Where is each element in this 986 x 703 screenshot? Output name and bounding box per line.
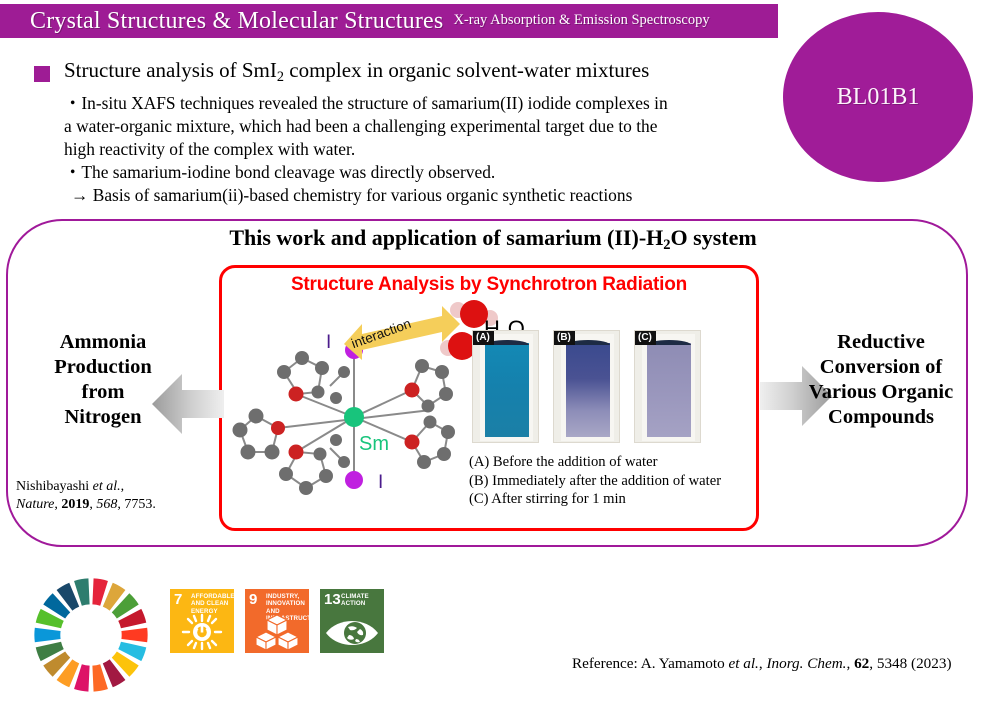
- sun-power-icon: [170, 613, 234, 651]
- right-line-3: Various Organic: [790, 380, 972, 405]
- reference-journal: Inorg. Chem.: [766, 655, 846, 672]
- citation-year: 2019: [61, 497, 89, 512]
- cuvette-c: (C): [634, 330, 701, 443]
- sdg-color-wheel-icon: ["#E5243B","#DDA63A","#4C9F38","#C5192D"…: [32, 576, 150, 694]
- intro-title: Structure analysis of SmI2 complex in or…: [64, 58, 649, 86]
- cuvette-caption-c: (C) After stirring for 1 min: [469, 490, 721, 509]
- reference-etal: et al.: [728, 655, 758, 672]
- beamline-badge: BL01B1: [783, 12, 973, 182]
- iodine-label-bottom: I: [378, 472, 383, 493]
- intro-line-1: ・In-situ XAFS techniques revealed the st…: [64, 92, 754, 115]
- cuvette-caption-a: (A) Before the addition of water: [469, 453, 721, 472]
- sdg-wheel-segment: [121, 628, 147, 643]
- citation-comma: ,: [121, 479, 125, 494]
- cuvette-tag-a: (A): [473, 331, 494, 345]
- sdg-label-13: CLIMATE ACTION: [341, 593, 381, 608]
- left-citation: Nishibayashi et al., Nature, 2019, 568, …: [16, 478, 216, 513]
- intro-heading-row: Structure analysis of SmI2 complex in or…: [34, 58, 754, 86]
- right-line-2: Conversion of: [790, 355, 972, 380]
- left-line-1: Ammonia: [12, 330, 194, 355]
- square-bullet-icon: [34, 66, 50, 82]
- eye-globe-icon: [320, 613, 384, 651]
- citation-etal: et al.: [93, 479, 121, 494]
- intro-title-subscript: 2: [277, 69, 284, 85]
- left-pointing-arrow-icon: [150, 368, 226, 440]
- header-bar: Crystal Structures & Molecular Structure…: [0, 4, 778, 38]
- intro-line-2: a water-organic mixture, which had been …: [64, 115, 754, 138]
- sdg-number-13: 13: [324, 592, 341, 607]
- samarium-atom: [344, 407, 364, 427]
- sdg-number-7: 7: [174, 592, 182, 607]
- reference-prefix: Reference: A. Yamamoto: [572, 655, 728, 672]
- intro-block: Structure analysis of SmI2 complex in or…: [34, 58, 754, 207]
- panel-title-subscript: 2: [663, 237, 670, 253]
- cuvette-a: (A): [472, 330, 539, 443]
- reference-sep1: ,: [846, 655, 854, 672]
- beamline-label: BL01B1: [837, 84, 920, 111]
- cuvette-caption-b: (B) Immediately after the addition of wa…: [469, 472, 721, 491]
- cubes-icon: [245, 613, 309, 651]
- citation-journal: Nature: [16, 497, 54, 512]
- iodine-atom-bottom: [345, 471, 363, 489]
- cuvette-b: (B): [553, 330, 620, 443]
- right-line-1: Reductive: [790, 330, 972, 355]
- sdg-wheel-segment: [34, 628, 60, 643]
- iodine-label-top: I: [326, 332, 331, 353]
- intro-title-pre: Structure analysis of SmI: [64, 58, 277, 82]
- cuvette-tag-b: (B): [554, 331, 575, 345]
- cuvette-captions: (A) Before the addition of water (B) Imm…: [469, 453, 721, 509]
- structure-analysis-box: Structure Analysis by Synchrotron Radiat…: [219, 265, 759, 531]
- cuvette-tag-c: (C): [635, 331, 656, 345]
- reference-volume: 62: [854, 655, 869, 672]
- panel-title-post: O system: [671, 225, 757, 250]
- reference-page: 5348 (2023): [877, 655, 952, 672]
- sdg-card-13: 13 CLIMATE ACTION: [320, 589, 384, 653]
- reference-line: Reference: A. Yamamoto et al., Inorg. Ch…: [572, 655, 952, 673]
- cuvette-liquid: [485, 343, 529, 437]
- panel-title-pre: This work and application of samarium (I…: [229, 225, 663, 250]
- sdg-card-7: 7 AFFORDABLE AND CLEAN ENERGY: [170, 589, 234, 653]
- intro-body: ・In-situ XAFS techniques revealed the st…: [64, 92, 754, 207]
- intro-line-4: ・The samarium-iodine bond cleavage was d…: [64, 161, 754, 184]
- right-application-text: Reductive Conversion of Various Organic …: [790, 330, 972, 430]
- sdg-number-9: 9: [249, 592, 257, 607]
- reference-sep2: ,: [869, 655, 877, 672]
- right-line-4: Compounds: [790, 405, 972, 430]
- sdg-icon-row: 7 AFFORDABLE AND CLEAN ENERGY: [170, 589, 384, 653]
- samarium-label: Sm: [359, 433, 389, 455]
- sdg-card-9: 9 INDUSTRY, INNOVATION AND INFRASTRUCTUR…: [245, 589, 309, 653]
- sdg-label-7: AFFORDABLE AND CLEAN ENERGY: [191, 593, 231, 615]
- cuvette-photo-row: (A) (B) (C): [472, 330, 701, 443]
- cuvette-liquid: [566, 343, 610, 437]
- header-subtitle: X-ray Absorption & Emission Spectroscopy: [453, 12, 709, 30]
- panel-title: This work and application of samarium (I…: [0, 225, 986, 254]
- intro-title-post: complex in organic solvent-water mixture…: [284, 58, 649, 82]
- intro-line-3: high reactivity of the complex with wate…: [64, 138, 754, 161]
- redbox-title: Structure Analysis by Synchrotron Radiat…: [222, 274, 756, 296]
- citation-pages: 7753.: [124, 497, 156, 512]
- citation-author: Nishibayashi: [16, 479, 93, 494]
- intro-line-5: → Basis of samarium(ii)-based chemistry …: [71, 184, 754, 207]
- header-title: Crystal Structures & Molecular Structure…: [0, 8, 443, 35]
- citation-volume: 568: [96, 497, 117, 512]
- cuvette-liquid: [647, 343, 691, 437]
